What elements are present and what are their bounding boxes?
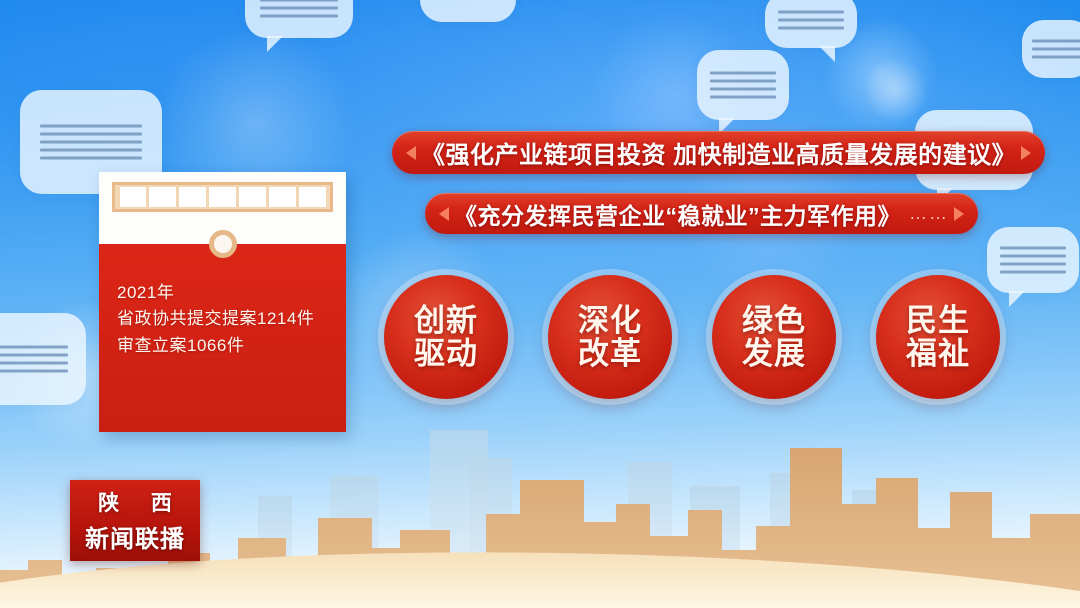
background-doc-card	[420, 0, 516, 22]
background-doc-card	[987, 227, 1079, 293]
envelope-clasp-icon	[209, 230, 237, 258]
channel-logo-region: 陕 西	[85, 487, 185, 517]
arrow-right-icon	[954, 207, 964, 221]
ellipsis-marker: ……	[909, 203, 949, 224]
theme-circle-line-bottom: 福祉	[906, 337, 970, 370]
theme-circle-livelihood: 民生 福祉	[876, 275, 1000, 399]
theme-circle-line-top: 民生	[906, 304, 970, 337]
theme-circle-line-top: 深化	[578, 304, 642, 337]
doc-lines	[1000, 247, 1066, 274]
stamp-square	[239, 187, 266, 207]
bubble-tail	[1009, 291, 1025, 307]
stamp-square	[120, 187, 147, 207]
stamp-square	[269, 187, 296, 207]
proposal-banner-2-text: 《充分发挥民营企业“稳就业”主力军作用》	[454, 197, 901, 231]
doc-lines	[0, 346, 68, 373]
stamp-square	[299, 187, 326, 207]
background-doc-card	[0, 313, 86, 405]
proposal-banner-1-text: 《强化产业链项目投资 加快制造业高质量发展的建议》	[421, 135, 1016, 170]
arrow-left-icon	[439, 207, 449, 221]
arrow-right-icon	[1021, 146, 1031, 160]
doc-lines	[40, 125, 142, 160]
stamp-square	[179, 187, 206, 207]
envelope-card: 2021年 省政协共提交提案1214件 审查立案1066件	[99, 172, 346, 432]
background-doc-card	[1022, 20, 1080, 78]
background-doc-card	[245, 0, 353, 38]
doc-lines	[260, 0, 338, 18]
bubble-tail	[267, 36, 283, 52]
theme-circle-line-bottom: 驱动	[414, 337, 478, 370]
theme-circle-green: 绿色 发展	[712, 275, 836, 399]
background-doc-card	[697, 50, 789, 120]
channel-logo-program: 新闻联播	[85, 519, 185, 554]
stamp-square	[209, 187, 236, 207]
theme-circle-innovation: 创新 驱动	[384, 275, 508, 399]
arrow-left-icon	[406, 146, 416, 160]
theme-circle-line-top: 绿色	[742, 304, 806, 337]
doc-lines	[710, 72, 776, 99]
theme-circle-line-bottom: 改革	[578, 337, 642, 370]
glow-blob	[860, 60, 930, 120]
theme-circle-reform: 深化 改革	[548, 275, 672, 399]
channel-logo: 陕 西 新闻联播	[70, 480, 200, 561]
broadcast-graphic: 2021年 省政协共提交提案1214件 审查立案1066件 《强化产业链项目投资…	[0, 0, 1080, 608]
proposal-banner-1: 《强化产业链项目投资 加快制造业高质量发展的建议》	[392, 131, 1045, 174]
proposal-banner-2: 《充分发挥民营企业“稳就业”主力军作用》 ……	[425, 193, 978, 234]
theme-circle-line-top: 创新	[414, 304, 478, 337]
theme-circle-line-bottom: 发展	[742, 337, 806, 370]
stats-year: 2021年	[117, 280, 336, 306]
doc-lines	[778, 11, 844, 30]
envelope-stats: 2021年 省政协共提交提案1214件 审查立案1066件	[117, 280, 336, 359]
envelope-stamp-strip	[112, 182, 333, 212]
stamp-square	[149, 187, 176, 207]
bubble-tail	[819, 46, 835, 62]
stats-line-2: 审查立案1066件	[117, 333, 336, 359]
stats-line-1: 省政协共提交提案1214件	[117, 306, 336, 332]
doc-lines	[1032, 40, 1080, 59]
background-doc-card	[765, 0, 857, 48]
